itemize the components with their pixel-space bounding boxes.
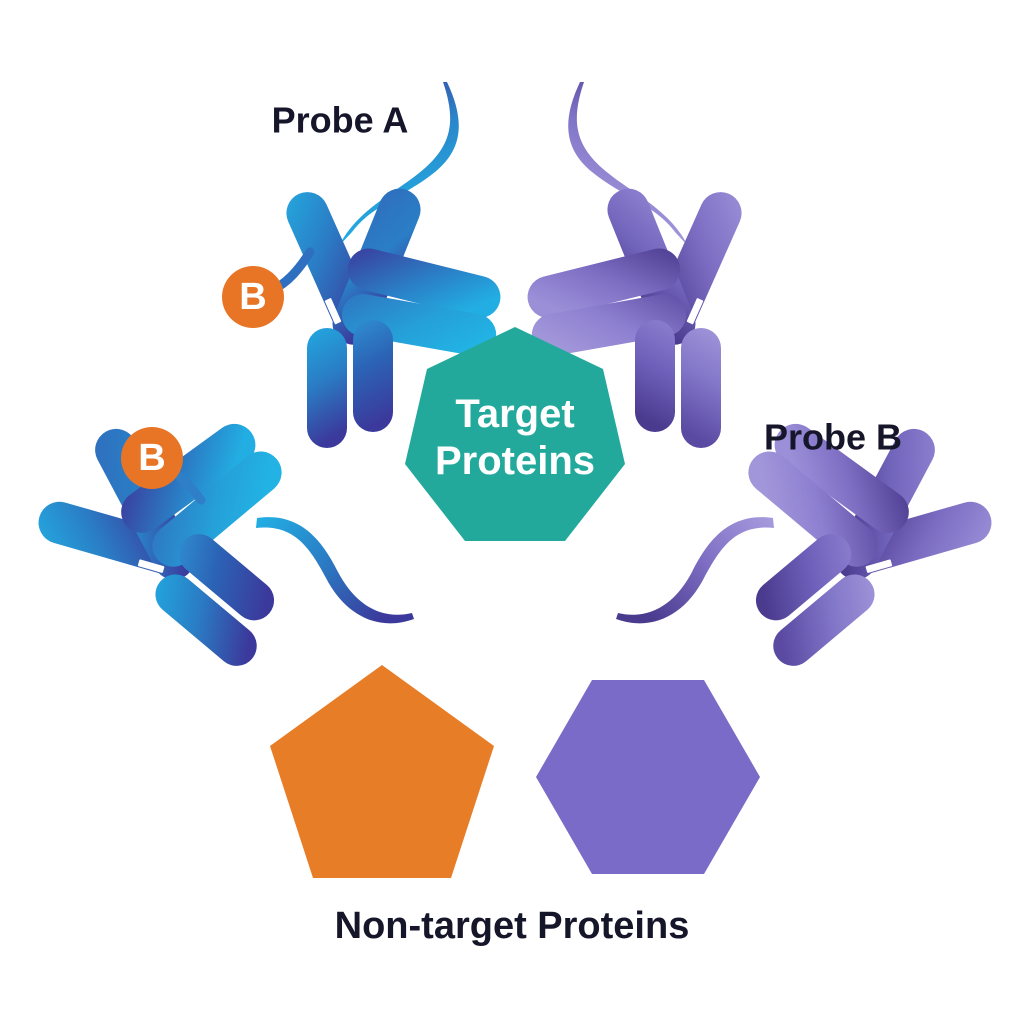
probe-a-top-leg-right	[353, 320, 393, 432]
biotin-badge-label: B	[239, 276, 266, 318]
diagram-svg: B	[0, 0, 1024, 1024]
probe-b-top-leg-left	[635, 320, 675, 432]
probe-a-top-leg-left	[307, 328, 347, 448]
biotin-badge-label: B	[138, 437, 165, 479]
probe-b-top-leg-right	[681, 328, 721, 448]
target-protein-label-line2: Proteins	[435, 439, 595, 483]
diagram-canvas: B	[0, 0, 1024, 1024]
target-protein-label-line1: Target	[455, 392, 574, 436]
non-target-proteins-label: Non-target Proteins	[335, 905, 690, 947]
probe-a-label: Probe A	[272, 100, 409, 141]
probe-b-label: Probe B	[764, 417, 902, 458]
